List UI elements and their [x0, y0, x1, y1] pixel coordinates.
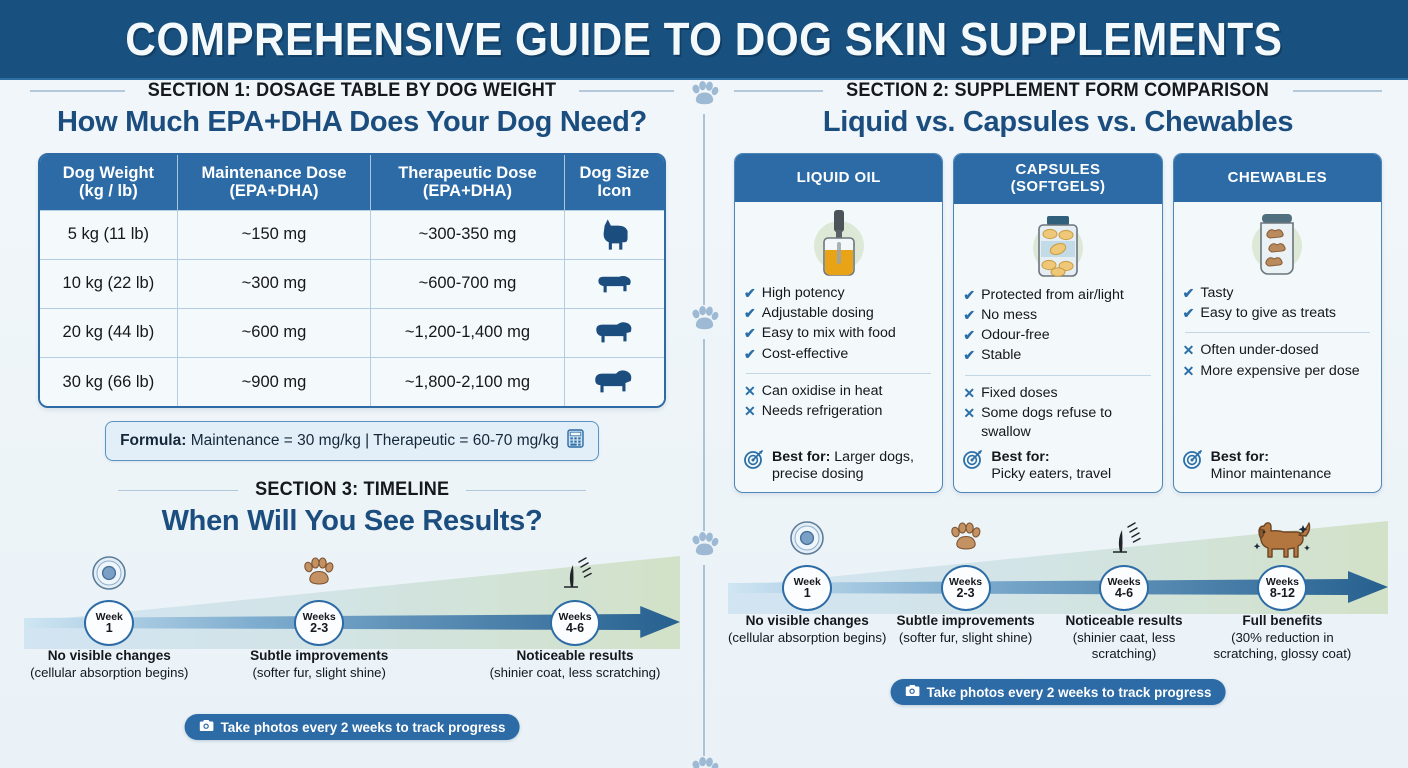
timeline-node[interactable]: Weeks4-6 [1099, 565, 1149, 611]
pro-item: ✔Easy to mix with food [744, 324, 933, 343]
photo-tip-text: Take photos every 2 weeks to track progr… [927, 685, 1212, 700]
milestone-title: Subtle improvements [881, 613, 1051, 630]
timeline-node[interactable]: Weeks2-3 [294, 600, 344, 646]
chihuahua-dog-icon [564, 210, 664, 259]
milestone-detail: (30% reduction in scratching, glossy coa… [1197, 630, 1367, 662]
paw-icon [300, 554, 338, 597]
timeline-label: No visible changes(cellular absorption b… [722, 613, 892, 646]
timeline-label: No visible changes(cellular absorption b… [14, 648, 204, 681]
cross-icon: ✕ [1183, 362, 1195, 380]
dosage-table-head: Dog Weight (kg / lb) Maintenance Dose (E… [40, 155, 664, 210]
section2-header: SECTION 2: SUPPLEMENT FORM COMPARISON [728, 80, 1388, 102]
cell-maintenance-dose: ~600 mg [177, 308, 370, 357]
pill-bottle-icon [954, 204, 1161, 280]
paw-icon [947, 519, 985, 562]
pro-item: ✔Adjustable dosing [744, 304, 933, 323]
target-icon [963, 449, 983, 475]
infographic-page: COMPREHENSIVE GUIDE TO DOG SKIN SUPPLEME… [0, 0, 1408, 768]
pro-label: Stable [981, 346, 1021, 365]
con-label: Some dogs refuse to swallow [981, 404, 1153, 441]
card-body: ✔Tasty✔Easy to give as treats✕Often unde… [1174, 278, 1381, 492]
node-week-value: 8-12 [1270, 587, 1295, 600]
paw-print-icon [688, 531, 720, 561]
check-icon: ✔ [963, 346, 975, 364]
milestone-detail: (softer fur, slight shine) [224, 665, 414, 681]
milestone-detail: (softer fur, slight shine) [881, 630, 1051, 646]
con-item: ✕Some dogs refuse to swallow [963, 404, 1152, 441]
cell-therapeutic-dose: ~300-350 mg [371, 210, 564, 259]
con-label: More expensive per dose [1200, 362, 1359, 381]
follicle-icon [1103, 519, 1145, 564]
card-divider [746, 373, 931, 374]
calculator-icon [567, 429, 584, 453]
divider-line [703, 114, 705, 305]
rule-right [579, 90, 674, 92]
pro-label: Tasty [1200, 284, 1233, 303]
best-for-text: Best for: Larger dogs, precise dosing [772, 449, 933, 485]
pro-item: ✔Stable [963, 346, 1152, 365]
pros-list: ✔Protected from air/light✔No mess✔Odour-… [963, 286, 1152, 367]
cell-maintenance-dose: ~900 mg [177, 357, 370, 406]
best-for-text: Best for:Picky eaters, travel [991, 449, 1111, 485]
col-header-maintenance-dose: Maintenance Dose (EPA+DHA) [177, 155, 370, 210]
pro-label: No mess [981, 306, 1037, 325]
target-icon [1183, 449, 1203, 475]
pro-item: ✔No mess [963, 306, 1152, 325]
pro-label: Cost-effective [762, 345, 848, 364]
timeline-label: Full benefits(30% reduction in scratchin… [1197, 613, 1367, 662]
timeline-node[interactable]: Weeks8-12 [1257, 565, 1307, 611]
best-for-row: Best for:Minor maintenance [1183, 443, 1372, 485]
card-divider [1185, 332, 1370, 333]
section3-kicker: SECTION 3: TIMELINE [255, 479, 449, 501]
cell-icon [90, 554, 128, 597]
con-label: Fixed doses [981, 384, 1058, 403]
comparison-cards: LIQUID OIL✔High potency✔Adjustable dosin… [728, 153, 1388, 493]
con-label: Needs refrigeration [762, 402, 883, 421]
cell-maintenance-dose: ~300 mg [177, 259, 370, 308]
check-icon: ✔ [963, 286, 975, 304]
camera-icon [905, 684, 920, 700]
dosage-table: Dog Weight (kg / lb) Maintenance Dose (E… [40, 155, 664, 406]
con-item: ✕Often under-dosed [1183, 341, 1372, 360]
paw-print-icon [688, 305, 720, 335]
cons-list: ✕Can oxidise in heat✕Needs refrigeration [744, 382, 933, 422]
target-icon [744, 449, 764, 475]
cross-icon: ✕ [963, 404, 975, 422]
timeline-node[interactable]: Week1 [782, 565, 832, 611]
con-item: ✕More expensive per dose [1183, 362, 1372, 381]
rule-right [466, 490, 586, 492]
pro-item: ✔Tasty [1183, 284, 1372, 303]
milestone-title: No visible changes [14, 648, 204, 665]
pros-list: ✔High potency✔Adjustable dosing✔Easy to … [744, 284, 933, 365]
pro-label: Adjustable dosing [762, 304, 874, 323]
cross-icon: ✕ [744, 382, 756, 400]
node-week-value: 2-3 [957, 587, 975, 600]
timeline-node[interactable]: Week1 [84, 600, 134, 646]
treat-jar-icon [1174, 202, 1381, 278]
card-divider [965, 375, 1150, 376]
pro-label: Easy to mix with food [762, 324, 896, 343]
milestone-detail: (cellular absorption begins) [722, 630, 892, 646]
timeline-label: Subtle improvements(softer fur, slight s… [881, 613, 1051, 646]
timeline-nodes: Week1Weeks2-3Weeks4-6 [24, 600, 680, 646]
milestone-detail: (shinier coat, less scratching) [480, 665, 670, 681]
left-column: SECTION 1: DOSAGE TABLE BY DOG WEIGHT Ho… [24, 80, 680, 744]
node-week-value: 4-6 [1115, 587, 1133, 600]
timeline-label: Noticeable results(shinier caat, less sc… [1039, 613, 1209, 662]
section2-kicker: SECTION 2: SUPPLEMENT FORM COMPARISON [847, 80, 1270, 102]
col-header-therapeutic-dose: Therapeutic Dose (EPA+DHA) [371, 155, 564, 210]
timeline-left: Week1Weeks2-3Weeks4-6No visible changes(… [24, 544, 680, 744]
right-column: SECTION 2: SUPPLEMENT FORM COMPARISON Li… [728, 80, 1388, 709]
cell-maintenance-dose: ~150 mg [177, 210, 370, 259]
table-row: 20 kg (44 lb)~600 mg~1,200-1,400 mg [40, 308, 664, 357]
camera-icon [199, 719, 214, 735]
beagle-dog-icon [564, 259, 664, 308]
dropper-bottle-icon [735, 202, 942, 278]
card-body: ✔Protected from air/light✔No mess✔Odour-… [954, 280, 1161, 493]
section3-subtitle: When Will You See Results? [24, 505, 680, 538]
pro-label: Odour-free [981, 326, 1050, 345]
best-for-row: Best for: Larger dogs, precise dosing [744, 443, 933, 485]
pro-item: ✔Easy to give as treats [1183, 304, 1372, 323]
comparison-card[interactable]: CAPSULES(SOFTGELS)✔Protected from air/li… [953, 153, 1162, 493]
table-row: 10 kg (22 lb)~300 mg~600-700 mg [40, 259, 664, 308]
milestone-title: Noticeable results [1039, 613, 1209, 630]
paw-print-icon [688, 756, 720, 768]
milestone-title: No visible changes [722, 613, 892, 630]
divider-line [703, 565, 705, 756]
check-icon: ✔ [1183, 304, 1195, 322]
formula-text: Formula: Maintenance = 30 mg/kg | Therap… [120, 432, 559, 450]
pro-label: High potency [762, 284, 845, 303]
divider-line [703, 339, 705, 530]
pro-label: Easy to give as treats [1200, 304, 1336, 323]
check-icon: ✔ [744, 304, 756, 322]
pro-label: Protected from air/light [981, 286, 1124, 305]
node-week-value: 1 [804, 587, 811, 600]
cross-icon: ✕ [963, 384, 975, 402]
check-icon: ✔ [744, 284, 756, 302]
best-for-row: Best for:Picky eaters, travel [963, 443, 1152, 485]
comparison-card[interactable]: CHEWABLES✔Tasty✔Easy to give as treats✕O… [1173, 153, 1382, 493]
card-body: ✔High potency✔Adjustable dosing✔Easy to … [735, 278, 942, 492]
rule-left [118, 490, 238, 492]
pro-item: ✔Cost-effective [744, 345, 933, 364]
timeline-right: Week1Weeks2-3Weeks4-6Weeks8-12No visible… [728, 509, 1388, 709]
timeline-label: Noticeable results(shinier coat, less sc… [480, 648, 670, 681]
section1-header: SECTION 1: DOSAGE TABLE BY DOG WEIGHT [24, 80, 680, 102]
timeline-nodes: Week1Weeks2-3Weeks4-6Weeks8-12 [728, 565, 1388, 611]
paw-print-icon [688, 80, 720, 110]
dosage-table-body: 5 kg (11 lb)~150 mg~300-350 mg10 kg (22 … [40, 210, 664, 406]
photo-tip-pill[interactable]: Take photos every 2 weeks to track progr… [185, 714, 520, 740]
node-week-value: 4-6 [566, 622, 584, 635]
section3-header: SECTION 3: TIMELINE [24, 479, 680, 501]
cross-icon: ✕ [1183, 341, 1195, 359]
section1-subtitle: How Much EPA+DHA Does Your Dog Need? [24, 106, 680, 139]
col-header-dog-weight: Dog Weight (kg / lb) [40, 155, 177, 210]
cons-list: ✕Often under-dosed✕More expensive per do… [1183, 341, 1372, 381]
collie-dog-icon [564, 308, 664, 357]
milestone-detail: (cellular absorption begins) [14, 665, 204, 681]
table-header-row: Dog Weight (kg / lb) Maintenance Dose (E… [40, 155, 664, 210]
formula-box: Formula: Maintenance = 30 mg/kg | Therap… [105, 421, 599, 461]
photo-tip-pill[interactable]: Take photos every 2 weeks to track progr… [891, 679, 1226, 705]
timeline-node[interactable]: Weeks2-3 [941, 565, 991, 611]
check-icon: ✔ [1183, 284, 1195, 302]
milestone-title: Noticeable results [480, 648, 670, 665]
con-item: ✕Can oxidise in heat [744, 382, 933, 401]
timeline-label: Subtle improvements(softer fur, slight s… [224, 648, 414, 681]
follicle-icon [554, 554, 596, 599]
node-week-value: 2-3 [310, 622, 328, 635]
cell-therapeutic-dose: ~1,800-2,100 mg [371, 357, 564, 406]
rule-left [734, 90, 823, 92]
rule-right [1293, 90, 1382, 92]
check-icon: ✔ [963, 306, 975, 324]
cell-dog-weight: 10 kg (22 lb) [40, 259, 177, 308]
cell-icon [788, 519, 826, 562]
shepherd-dog-icon [564, 357, 664, 406]
section2-subtitle: Liquid vs. Capsules vs. Chewables [728, 106, 1388, 139]
check-icon: ✔ [963, 326, 975, 344]
pros-list: ✔Tasty✔Easy to give as treats [1183, 284, 1372, 324]
cell-therapeutic-dose: ~600-700 mg [371, 259, 564, 308]
cons-list: ✕Fixed doses✕Some dogs refuse to swallow [963, 384, 1152, 443]
photo-tip-text: Take photos every 2 weeks to track progr… [221, 720, 506, 735]
card-title: LIQUID OIL [735, 154, 942, 202]
dosage-table-wrapper: Dog Weight (kg / lb) Maintenance Dose (E… [38, 153, 666, 408]
table-row: 30 kg (66 lb)~900 mg~1,800-2,100 mg [40, 357, 664, 406]
timeline-node[interactable]: Weeks4-6 [550, 600, 600, 646]
table-row: 5 kg (11 lb)~150 mg~300-350 mg [40, 210, 664, 259]
cell-dog-weight: 30 kg (66 lb) [40, 357, 177, 406]
body-area: SECTION 1: DOSAGE TABLE BY DOG WEIGHT Ho… [0, 80, 1408, 768]
cross-icon: ✕ [744, 402, 756, 420]
pro-item: ✔Protected from air/light [963, 286, 1152, 305]
con-label: Often under-dosed [1200, 341, 1318, 360]
page-title: COMPREHENSIVE GUIDE TO DOG SKIN SUPPLEME… [125, 12, 1282, 66]
happy-dog-icon [1253, 519, 1311, 568]
card-title: CHEWABLES [1174, 154, 1381, 202]
check-icon: ✔ [744, 324, 756, 342]
pro-item: ✔Odour-free [963, 326, 1152, 345]
section1-kicker: SECTION 1: DOSAGE TABLE BY DOG WEIGHT [148, 80, 557, 102]
best-for-text: Best for:Minor maintenance [1211, 449, 1332, 485]
cell-therapeutic-dose: ~1,200-1,400 mg [371, 308, 564, 357]
con-item: ✕Fixed doses [963, 384, 1152, 403]
con-item: ✕Needs refrigeration [744, 402, 933, 421]
con-label: Can oxidise in heat [762, 382, 883, 401]
center-divider [688, 84, 720, 760]
node-week-value: 1 [106, 622, 113, 635]
milestone-title: Subtle improvements [224, 648, 414, 665]
title-bar: COMPREHENSIVE GUIDE TO DOG SKIN SUPPLEME… [0, 0, 1408, 80]
comparison-card[interactable]: LIQUID OIL✔High potency✔Adjustable dosin… [734, 153, 943, 493]
formula-body: Maintenance = 30 mg/kg | Therapeutic = 6… [191, 432, 559, 449]
formula-label: Formula: [120, 432, 186, 449]
card-title: CAPSULES(SOFTGELS) [954, 154, 1161, 204]
milestone-detail: (shinier caat, less scratching) [1039, 630, 1209, 662]
col-header-dog-size-icon: Dog Size Icon [564, 155, 664, 210]
cell-dog-weight: 5 kg (11 lb) [40, 210, 177, 259]
milestone-title: Full benefits [1197, 613, 1367, 630]
rule-left [30, 90, 125, 92]
pro-item: ✔High potency [744, 284, 933, 303]
check-icon: ✔ [744, 345, 756, 363]
cell-dog-weight: 20 kg (44 lb) [40, 308, 177, 357]
